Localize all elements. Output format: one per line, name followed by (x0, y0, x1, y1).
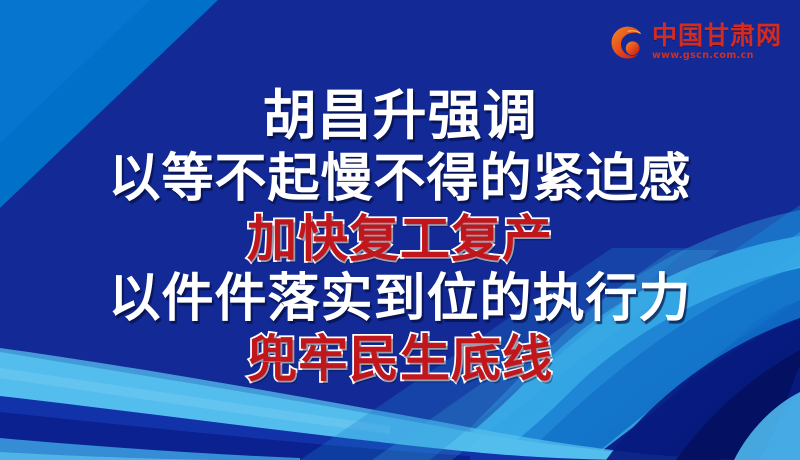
site-logo[interactable]: 中国甘肃网 www.gscn.com.cn (607, 22, 782, 62)
gscn-logo-icon (607, 22, 647, 62)
logo-site-url: www.gscn.com.cn (652, 51, 754, 61)
headline-line-3: 加快复工复产 (247, 210, 553, 268)
headline-block: 胡昌升强调 以等不起慢不得的紧迫感 加快复工复产 以件件落实到位的执行力 兜牢民… (0, 86, 800, 388)
headline-line-1: 胡昌升强调 (263, 86, 538, 146)
headline-line-5: 兜牢民生底线 (247, 330, 553, 388)
logo-site-name: 中国甘肃网 (652, 23, 782, 48)
poster-banner: 中国甘肃网 www.gscn.com.cn 胡昌升强调 以等不起慢不得的紧迫感 … (0, 0, 800, 460)
headline-line-2: 以等不起慢不得的紧迫感 (108, 150, 691, 208)
headline-line-4: 以件件落实到位的执行力 (108, 270, 691, 328)
